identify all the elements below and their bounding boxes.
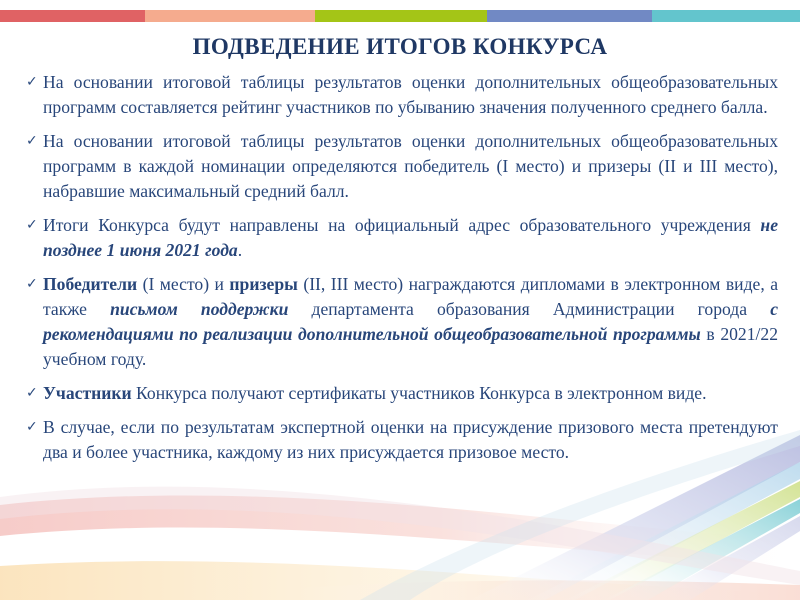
text-run: призеры — [229, 274, 297, 294]
text-run: Конкурса получают сертификаты участников… — [132, 383, 707, 403]
text-run: Победители — [43, 274, 137, 294]
bullet-text: Победители (I место) и призеры (II, III … — [43, 272, 778, 372]
bullet-diplomas: ✓Победители (I место) и призеры (II, III… — [26, 272, 778, 372]
bullet-results-sent: ✓Итоги Конкурса будут направлены на офиц… — [26, 213, 778, 263]
checkmark-icon: ✓ — [26, 70, 43, 95]
text-run: Участники — [43, 383, 132, 403]
checkmark-icon: ✓ — [26, 129, 43, 154]
slide-title: ПОДВЕДЕНИЕ ИТОГОВ КОНКУРСА — [0, 34, 800, 60]
text-run: На основании итоговой таблицы результато… — [43, 131, 778, 201]
text-run: На основании итоговой таблицы результато… — [43, 72, 778, 117]
bullet-text: На основании итоговой таблицы результато… — [43, 129, 778, 204]
bullet-tie: ✓В случае, если по результатам экспертно… — [26, 415, 778, 465]
bullet-rating: ✓На основании итоговой таблицы результат… — [26, 70, 778, 120]
checkmark-icon: ✓ — [26, 381, 43, 406]
checkmark-icon: ✓ — [26, 213, 43, 238]
top-color-bar — [0, 10, 800, 22]
color-segment-green — [315, 10, 487, 22]
text-run: письмом поддержки — [110, 299, 288, 319]
slide-canvas: ПОДВЕДЕНИЕ ИТОГОВ КОНКУРСА ✓На основании… — [0, 0, 800, 600]
text-run: . — [238, 240, 242, 260]
text-run: Итоги Конкурса будут направлены на офици… — [43, 215, 760, 235]
checkmark-icon: ✓ — [26, 272, 43, 297]
bullet-text: Итоги Конкурса будут направлены на офици… — [43, 213, 778, 263]
color-segment-blue — [487, 10, 652, 22]
bullet-text: Участники Конкурса получают сертификаты … — [43, 381, 778, 406]
text-run: департамента образования Администрации г… — [288, 299, 770, 319]
bullet-winners-determined: ✓На основании итоговой таблицы результат… — [26, 129, 778, 204]
bullet-text: В случае, если по результатам экспертной… — [43, 415, 778, 465]
color-segment-salmon — [145, 10, 315, 22]
bullet-text: На основании итоговой таблицы результато… — [43, 70, 778, 120]
bullet-participants: ✓Участники Конкурса получают сертификаты… — [26, 381, 778, 406]
color-segment-teal — [652, 10, 800, 22]
checkmark-icon: ✓ — [26, 415, 43, 440]
bullet-list: ✓На основании итоговой таблицы результат… — [26, 70, 778, 474]
text-run: (I место) и — [137, 274, 229, 294]
text-run: В случае, если по результатам экспертной… — [43, 417, 778, 462]
color-segment-red — [0, 10, 145, 22]
